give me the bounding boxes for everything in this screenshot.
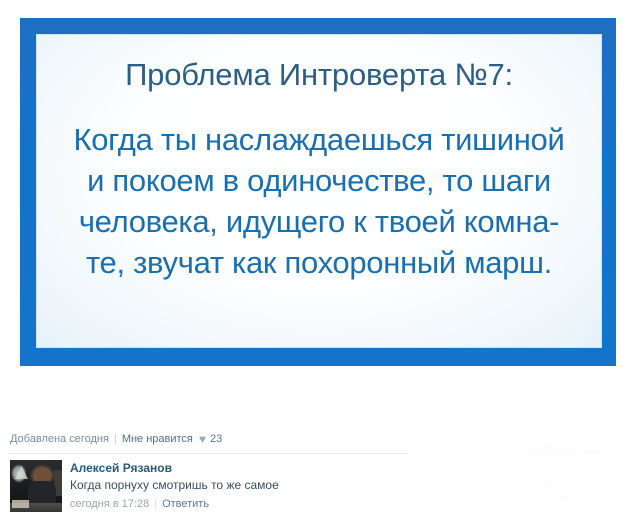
- meme-inner-panel: Проблема Интроверта №7: Когда ты наслажд…: [36, 34, 602, 348]
- avatar[interactable]: [10, 460, 62, 512]
- comment-author-link[interactable]: Алексей Рязанов: [70, 460, 279, 476]
- meme-body-line-1: Когда ты наслаждаешься тишиной: [37, 119, 601, 160]
- meta-separator: |: [114, 432, 117, 446]
- comment-actions-row: сегодня в 17:28 | Ответить: [70, 497, 279, 511]
- avatar-paper-shape: [12, 500, 29, 508]
- comment-content: Алексей Рязанов Когда порнуху смотришь т…: [70, 460, 279, 511]
- meme-title: Проблема Интроверта №7:: [125, 57, 513, 93]
- reply-button[interactable]: Ответить: [162, 497, 209, 511]
- comment-text: Когда порнуху смотришь то же самое: [70, 477, 279, 494]
- post-added-label: Добавлена сегодня: [10, 432, 109, 446]
- avatar-head-shape: [36, 468, 49, 482]
- footer-divider: [8, 453, 408, 454]
- meme-image-frame[interactable]: Проблема Интроверта №7: Когда ты наслажд…: [20, 18, 616, 366]
- meme-body-line-3: человека, идущего к твоей комна-: [37, 201, 601, 242]
- meme-body-text: Когда ты наслаждаешься тишиной и покоем …: [37, 119, 601, 283]
- scan-artifact: [425, 424, 631, 518]
- like-button[interactable]: Мне нравится: [122, 432, 193, 446]
- post-footer: Добавлена сегодня | Мне нравится ♥ 23 Ал…: [0, 424, 631, 518]
- post-meta-row: Добавлена сегодня | Мне нравится ♥ 23: [10, 432, 222, 446]
- comment-timestamp: сегодня в 17:28: [70, 497, 149, 511]
- meme-body-line-2: и покоем в одиночестве, то шаги: [37, 160, 601, 201]
- avatar-lamp-shape: [15, 466, 28, 479]
- meme-body-line-4: те, звучат как похоронный марш.: [37, 242, 601, 283]
- heart-icon[interactable]: ♥: [199, 434, 206, 445]
- avatar-torso-shape: [28, 481, 56, 503]
- comment-item: Алексей Рязанов Когда порнуху смотришь т…: [10, 460, 279, 512]
- comment-separator: |: [154, 497, 157, 511]
- like-count: 23: [210, 432, 222, 446]
